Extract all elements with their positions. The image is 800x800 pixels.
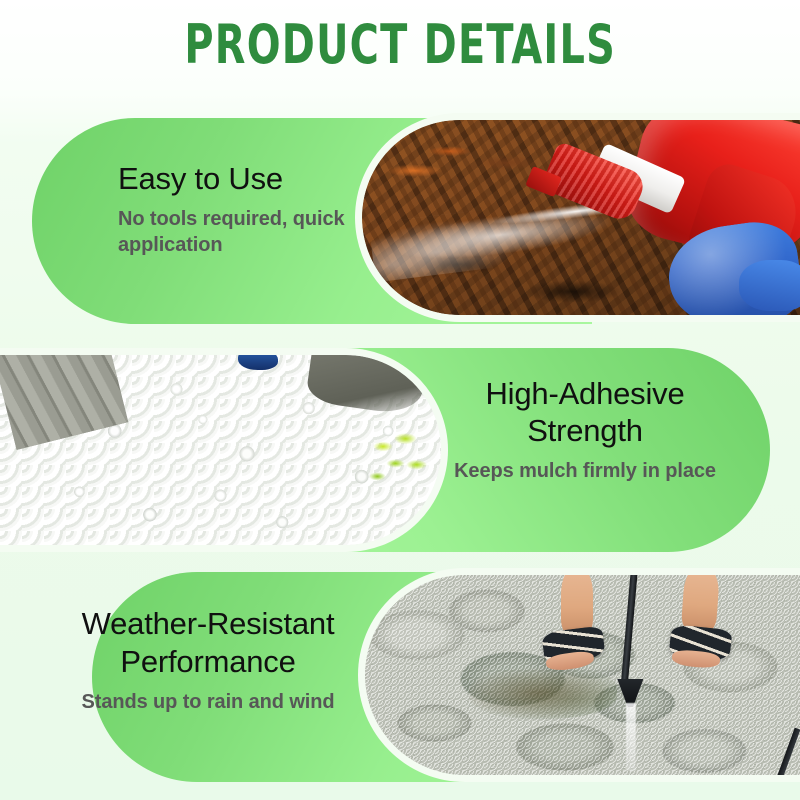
stones-with-feet-and-spray-wand-photo [358,568,800,782]
product-details-infographic: PRODUCT DETAILS Easy to Use No tools req… [0,0,800,800]
feature-subtext: Stands up to rain and wind [48,689,368,715]
feature-heading: Weather-Resistant Performance [48,605,368,681]
spray-wand-jet [626,703,636,771]
left-leg [561,575,594,635]
right-leg [680,575,719,632]
photo-clip [365,575,800,775]
feature-text-weather-resistant-performance: Weather-Resistant Performance Stands up … [48,605,368,715]
wet-stone-patch [469,667,617,719]
feature-card-weather-resistant-performance: Weather-Resistant Performance Stands up … [0,0,800,800]
